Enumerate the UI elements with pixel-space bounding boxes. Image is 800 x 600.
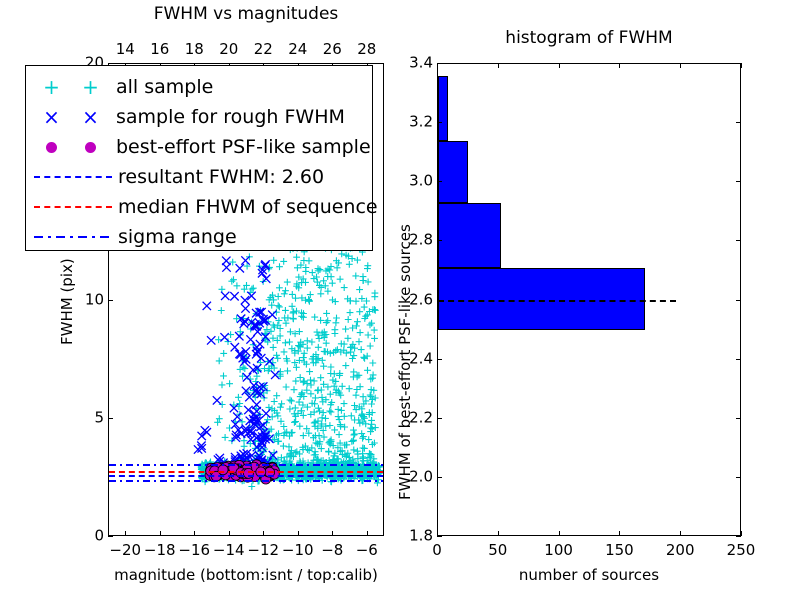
histogram-yaxis-label: FWHM of best-effort PSF-like sources bbox=[398, 224, 413, 500]
scatter-xtick-label-top: 28 bbox=[357, 42, 376, 57]
histogram-xaxis-label: number of sources bbox=[519, 568, 659, 583]
histogram-bar bbox=[438, 76, 448, 141]
legend-marker-group: ×× bbox=[32, 105, 110, 129]
scatter-xtick-label-bottom: −12 bbox=[247, 543, 279, 558]
histogram-ytick-label: 3.0 bbox=[399, 174, 433, 189]
legend-cross-marker-icon: × bbox=[43, 107, 60, 127]
histogram-xtick-label: 0 bbox=[432, 543, 442, 558]
scatter-xtick-label-top: 14 bbox=[116, 42, 135, 57]
histogram-ytick bbox=[437, 418, 442, 419]
histogram-ytick-right bbox=[736, 477, 741, 478]
sigma-range-upper-line bbox=[109, 464, 383, 466]
scatter-xtick-label-top: 22 bbox=[254, 42, 273, 57]
histogram-xtick-label: 200 bbox=[666, 543, 695, 558]
histogram-ytick-right bbox=[736, 418, 741, 419]
legend-item-label: resultant FWHM: 2.60 bbox=[112, 166, 324, 188]
histogram-xtick-label: 150 bbox=[605, 543, 634, 558]
scatter-xtick-label-bottom: −16 bbox=[178, 543, 210, 558]
legend-cross-marker-icon: × bbox=[82, 107, 99, 127]
legend-item-label: sigma range bbox=[112, 226, 237, 248]
median-fwhm-line bbox=[109, 471, 383, 473]
sigma-range-lower-line bbox=[109, 480, 383, 482]
histogram-xtick-top bbox=[498, 63, 499, 68]
histogram-ytick-right bbox=[736, 122, 741, 123]
scatter-xtick-label-top: 20 bbox=[219, 42, 238, 57]
scatter-ytick-label: 0 bbox=[78, 529, 104, 544]
scatter-xtick-label-top: 26 bbox=[323, 42, 342, 57]
legend-circle-marker-icon bbox=[46, 142, 57, 153]
histogram-ytick-label: 1.8 bbox=[399, 529, 433, 544]
scatter-ytick-label: 10 bbox=[78, 292, 104, 307]
histogram-ytick bbox=[437, 359, 442, 360]
scatter-xtick-label-bottom: −6 bbox=[356, 543, 378, 558]
scatter-xtick-label-bottom: −18 bbox=[144, 543, 176, 558]
histogram-title: histogram of FWHM bbox=[505, 30, 672, 47]
scatter-xtick-bottom bbox=[194, 531, 195, 536]
histogram-bar bbox=[438, 141, 468, 203]
legend-item-label: best-effort PSF-like sample bbox=[110, 136, 371, 158]
histogram-ytick bbox=[437, 536, 442, 537]
histogram-ytick-label: 3.2 bbox=[399, 115, 433, 130]
histogram-xtick bbox=[619, 531, 620, 536]
histogram-xtick-label: 250 bbox=[727, 543, 756, 558]
histogram-xtick bbox=[498, 531, 499, 536]
legend-dashdot-line-icon bbox=[34, 236, 112, 238]
legend-circle-marker-icon bbox=[85, 142, 96, 153]
histogram-ytick-right bbox=[736, 181, 741, 182]
histogram-axes bbox=[437, 63, 741, 536]
legend-item-4[interactable]: median FHWM of sequence bbox=[26, 192, 372, 222]
legend-dashed-line-icon bbox=[34, 206, 112, 208]
scatter-xtick-label-top: 24 bbox=[288, 42, 307, 57]
scatter-yaxis-label: FWHM (pix) bbox=[60, 258, 75, 345]
scatter-xtick-bottom bbox=[263, 531, 264, 536]
scatter-xtick-bottom bbox=[229, 531, 230, 536]
histogram-ytick bbox=[437, 122, 442, 123]
legend-item-label: all sample bbox=[110, 76, 213, 98]
histogram-ytick-right bbox=[736, 536, 741, 537]
histogram-ytick bbox=[437, 477, 442, 478]
histogram-ytick-right bbox=[736, 359, 741, 360]
histogram-xtick-top bbox=[680, 63, 681, 68]
scatter-xaxis-label: magnitude (bottom:isnt / top:calib) bbox=[114, 568, 378, 583]
histogram-xtick-top bbox=[741, 63, 742, 68]
legend-marker-group: ++ bbox=[32, 75, 110, 99]
histogram-xtick bbox=[741, 531, 742, 536]
scatter-plot-title: FWHM vs magnitudes bbox=[154, 6, 339, 23]
histogram-xtick-label: 50 bbox=[488, 543, 507, 558]
scatter-ytick bbox=[108, 418, 113, 419]
legend-item-2[interactable]: best-effort PSF-like sample bbox=[26, 132, 372, 162]
legend-marker-group bbox=[32, 135, 110, 159]
scatter-xtick-label-top: 16 bbox=[150, 42, 169, 57]
figure-canvas: −20−18−16−14−12−10−8−6141618202224262805… bbox=[0, 0, 800, 600]
scatter-xtick-label-bottom: −8 bbox=[321, 543, 343, 558]
scatter-xtick-bottom bbox=[367, 531, 368, 536]
scatter-xtick-label-bottom: −10 bbox=[282, 543, 314, 558]
scatter-ytick bbox=[108, 536, 113, 537]
scatter-xtick-label-bottom: −14 bbox=[213, 543, 245, 558]
resultant-fwhm-line bbox=[109, 475, 383, 477]
histogram-ytick-right bbox=[736, 300, 741, 301]
histogram-ytick bbox=[437, 300, 442, 301]
histogram-ytick-label: 3.4 bbox=[399, 56, 433, 71]
histogram-ytick bbox=[437, 181, 442, 182]
legend-item-3[interactable]: resultant FWHM: 2.60 bbox=[26, 162, 372, 192]
scatter-ytick bbox=[108, 300, 113, 301]
scatter-ytick bbox=[108, 63, 113, 64]
histogram-xtick bbox=[559, 531, 560, 536]
histogram-resultant-fwhm-line bbox=[438, 300, 676, 302]
scatter-ytick-label: 5 bbox=[78, 410, 104, 425]
scatter-xtick-label-top: 18 bbox=[185, 42, 204, 57]
legend-plus-marker-icon: + bbox=[82, 77, 99, 97]
histogram-xtick-label: 100 bbox=[544, 543, 573, 558]
legend-item-label: sample for rough FWHM bbox=[110, 106, 345, 128]
legend-item-label: median FHWM of sequence bbox=[112, 196, 378, 218]
histogram-ytick bbox=[437, 63, 442, 64]
legend-dashed-line-icon bbox=[34, 176, 112, 178]
histogram-ytick-right bbox=[736, 63, 741, 64]
histogram-bar bbox=[438, 203, 501, 268]
histogram-ytick-right bbox=[736, 240, 741, 241]
scatter-xtick-bottom bbox=[332, 531, 333, 536]
scatter-xtick-label-bottom: −20 bbox=[109, 543, 141, 558]
histogram-xtick-top bbox=[559, 63, 560, 68]
legend-plus-marker-icon: + bbox=[43, 77, 60, 97]
scatter-xtick-bottom bbox=[125, 531, 126, 536]
histogram-xtick-top bbox=[619, 63, 620, 68]
legend-item-1[interactable]: ××sample for rough FWHM bbox=[26, 102, 372, 132]
histogram-ytick bbox=[437, 240, 442, 241]
histogram-xtick bbox=[680, 531, 681, 536]
plot-legend: ++all sample××sample for rough FWHMbest-… bbox=[25, 65, 373, 251]
legend-item-5[interactable]: sigma range bbox=[26, 222, 372, 252]
scatter-xtick-bottom bbox=[160, 531, 161, 536]
scatter-xtick-bottom bbox=[298, 531, 299, 536]
legend-item-0[interactable]: ++all sample bbox=[26, 72, 372, 102]
